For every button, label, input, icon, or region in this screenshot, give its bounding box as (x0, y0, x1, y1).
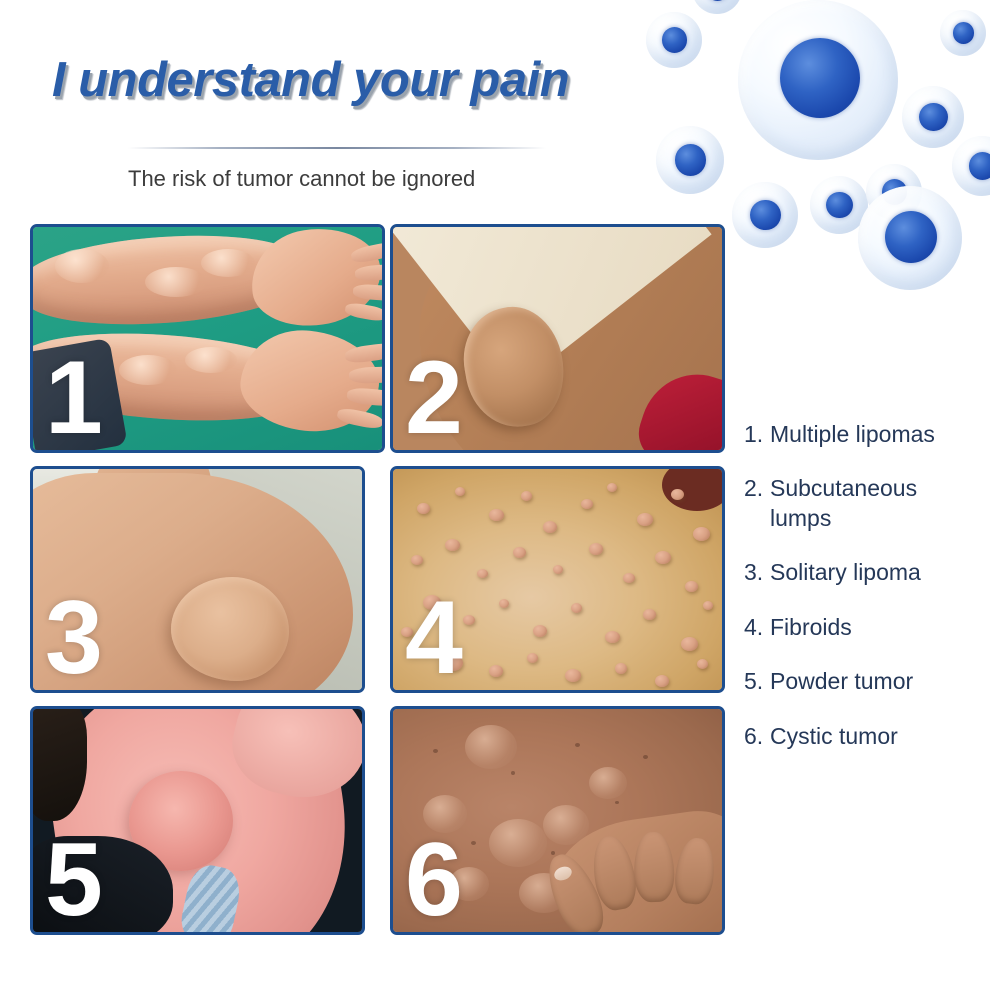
photo-1-image (33, 227, 382, 450)
photo-card-5[interactable]: 5 (30, 706, 365, 935)
list-item-label: Subcutaneous lumps (770, 475, 917, 530)
photo-5-image (33, 709, 362, 932)
list-item-index: 3. (744, 558, 763, 587)
cell-sphere (902, 86, 964, 148)
photo-6-image (393, 709, 722, 932)
cell-sphere (940, 10, 986, 56)
page-subtitle: The risk of tumor cannot be ignored (128, 166, 475, 192)
list-item-index: 6. (744, 722, 763, 751)
list-item: 5. Powder tumor (744, 667, 982, 696)
photo-card-1[interactable]: 1 (30, 224, 385, 453)
photo-3-image (33, 469, 362, 690)
list-item: 4. Fibroids (744, 613, 982, 642)
page-title: I understand your pain (52, 52, 569, 108)
list-item: 6. Cystic tumor (744, 722, 982, 751)
list-item-index: 2. (744, 474, 763, 503)
cell-sphere (952, 136, 990, 196)
cell-sphere (732, 182, 798, 248)
list-item-index: 4. (744, 613, 763, 642)
cell-sphere (656, 126, 724, 194)
cell-sphere (810, 176, 868, 234)
list-item-label: Fibroids (770, 614, 852, 640)
list-item: 1. Multiple lipomas (744, 420, 982, 449)
photo-card-3[interactable]: 3 (30, 466, 365, 693)
list-item: 2. Subcutaneous lumps (744, 474, 982, 533)
photo-card-6[interactable]: 6 (390, 706, 725, 935)
photo-2-image (393, 227, 722, 450)
cell-sphere (866, 164, 922, 220)
condition-list: 1. Multiple lipomas 2. Subcutaneous lump… (744, 420, 982, 776)
list-item-index: 1. (744, 420, 763, 449)
list-item-label: Multiple lipomas (770, 421, 935, 447)
photo-card-2[interactable]: 2 (390, 224, 725, 453)
cell-sphere (646, 12, 702, 68)
list-item-label: Cystic tumor (770, 723, 898, 749)
cell-sphere (858, 186, 962, 290)
photo-card-4[interactable]: 4 (390, 466, 725, 693)
cell-sphere (692, 0, 742, 14)
infographic-page: I understand your pain The risk of tumor… (0, 0, 990, 990)
photo-4-image (393, 469, 722, 690)
list-item-label: Powder tumor (770, 668, 913, 694)
list-item: 3. Solitary lipoma (744, 558, 982, 587)
cell-sphere (738, 0, 898, 160)
title-divider (128, 147, 546, 149)
list-item-index: 5. (744, 667, 763, 696)
list-item-label: Solitary lipoma (770, 559, 921, 585)
